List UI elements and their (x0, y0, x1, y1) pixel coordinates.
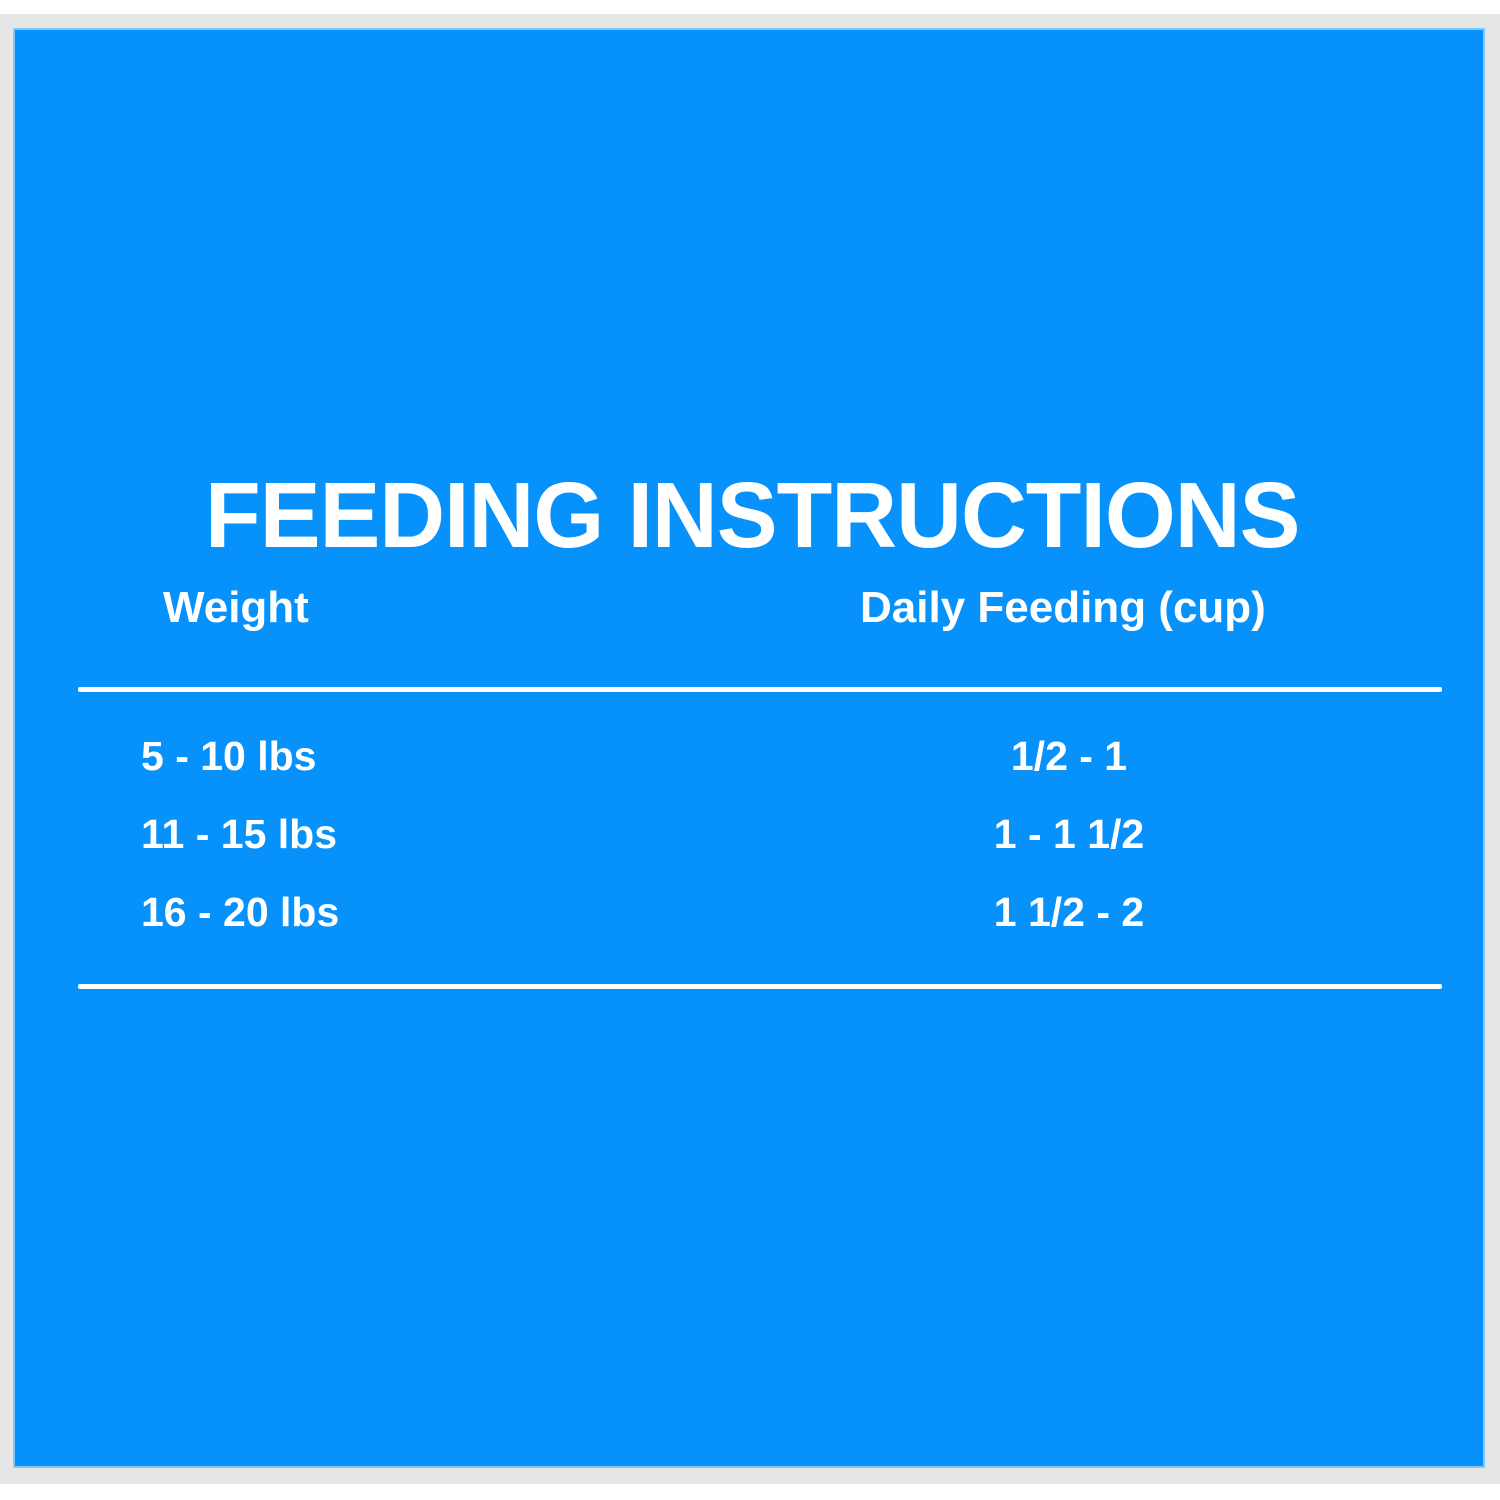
table-row: 16 - 20 lbs 1 1/2 - 2 (63, 884, 1443, 962)
page-title: FEEDING INSTRUCTIONS (205, 467, 1263, 563)
table-bottom-divider (78, 984, 1442, 989)
table-row: 5 - 10 lbs 1/2 - 1 (63, 728, 1443, 806)
feeding-table: Weight Daily Feeding (cup) 5 - 10 lbs 1/… (63, 578, 1443, 662)
cell-weight: 16 - 20 lbs (141, 884, 339, 940)
column-header-weight: Weight (163, 578, 309, 638)
cell-weight: 11 - 15 lbs (141, 806, 337, 862)
column-header-daily-feeding: Daily Feeding (cup) (860, 578, 1266, 638)
table-header-row: Weight Daily Feeding (cup) (63, 578, 1443, 662)
table-row: 11 - 15 lbs 1 - 1 1/2 (63, 806, 1443, 884)
page-root: FEEDING INSTRUCTIONS Weight Daily Feedin… (0, 0, 1500, 1500)
feeding-instructions-panel: FEEDING INSTRUCTIONS Weight Daily Feedin… (15, 30, 1483, 1466)
cell-daily-feeding: 1 1/2 - 2 (779, 884, 1359, 940)
cell-daily-feeding: 1/2 - 1 (779, 728, 1359, 784)
table-top-divider (78, 687, 1442, 692)
cell-weight: 5 - 10 lbs (141, 728, 316, 784)
cell-daily-feeding: 1 - 1 1/2 (779, 806, 1359, 862)
table-body: 5 - 10 lbs 1/2 - 1 11 - 15 lbs 1 - 1 1/2… (63, 728, 1443, 962)
